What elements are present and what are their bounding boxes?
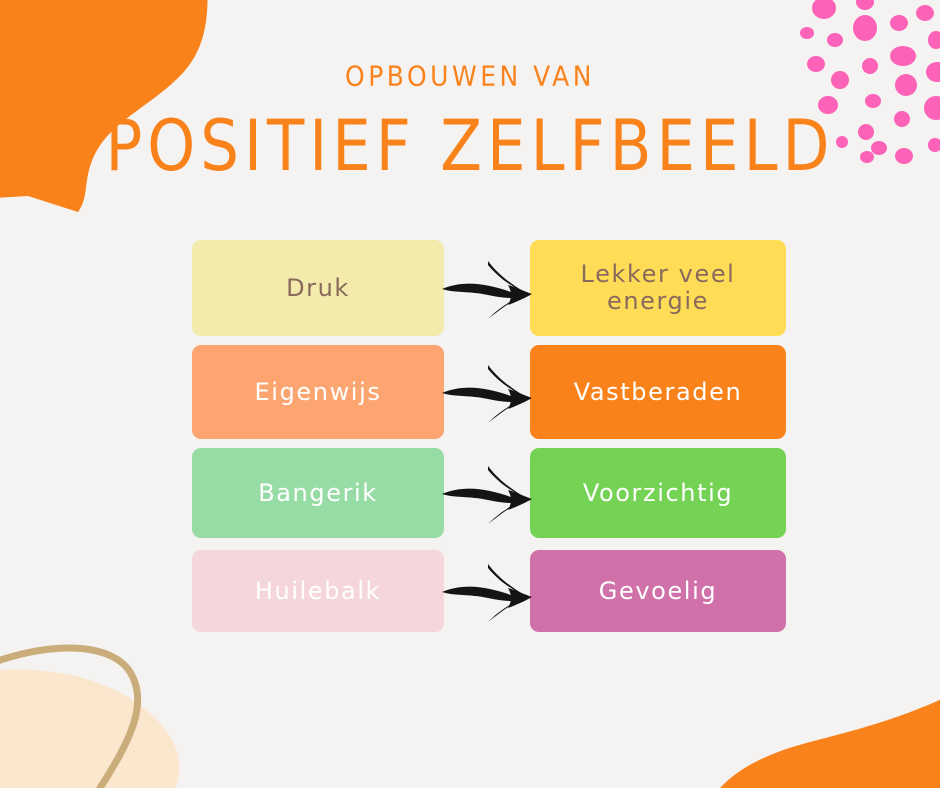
from-label-box: Eigenwijs [192,345,444,439]
to-label-box: Lekker veel energie [530,240,786,336]
tan-curve-bottom-left [0,648,138,788]
diagram-row: Druk Lekker veel energie [192,240,786,336]
orange-blob-bottom-right [700,680,940,788]
from-label-box: Huilebalk [192,550,444,632]
from-label-text: Druk [286,275,350,302]
to-label-box: Vastberaden [530,345,786,439]
to-label-box: Voorzichtig [530,448,786,538]
arrow-right-brush-icon [438,357,538,427]
to-label-text: Gevoelig [599,578,717,605]
cream-blob-bottom-left [0,669,180,788]
to-label-text: Lekker veel energie [540,261,776,315]
from-label-box: Druk [192,240,444,336]
arrow-right-brush-icon [438,556,538,626]
from-label-text: Eigenwijs [255,379,382,406]
diagram-row: Huilebalk Gevoelig [192,550,786,632]
to-label-box: Gevoelig [530,550,786,632]
to-label-text: Vastberaden [574,379,743,406]
to-label-text: Voorzichtig [583,480,733,507]
diagram-row: Eigenwijs Vastberaden [192,345,786,439]
diagram-row: Bangerik Voorzichtig [192,448,786,538]
from-label-text: Huilebalk [255,578,381,605]
from-label-box: Bangerik [192,448,444,538]
from-label-text: Bangerik [258,480,378,507]
arrow-right-brush-icon [438,458,538,528]
title-block: OPBOUWEN VAN POSITIEF ZELFBEELD [0,0,940,180]
eyebrow-text: OPBOUWEN VAN [0,0,940,92]
arrow-right-brush-icon [438,253,538,323]
page-title: POSITIEF ZELFBEELD [0,80,940,188]
